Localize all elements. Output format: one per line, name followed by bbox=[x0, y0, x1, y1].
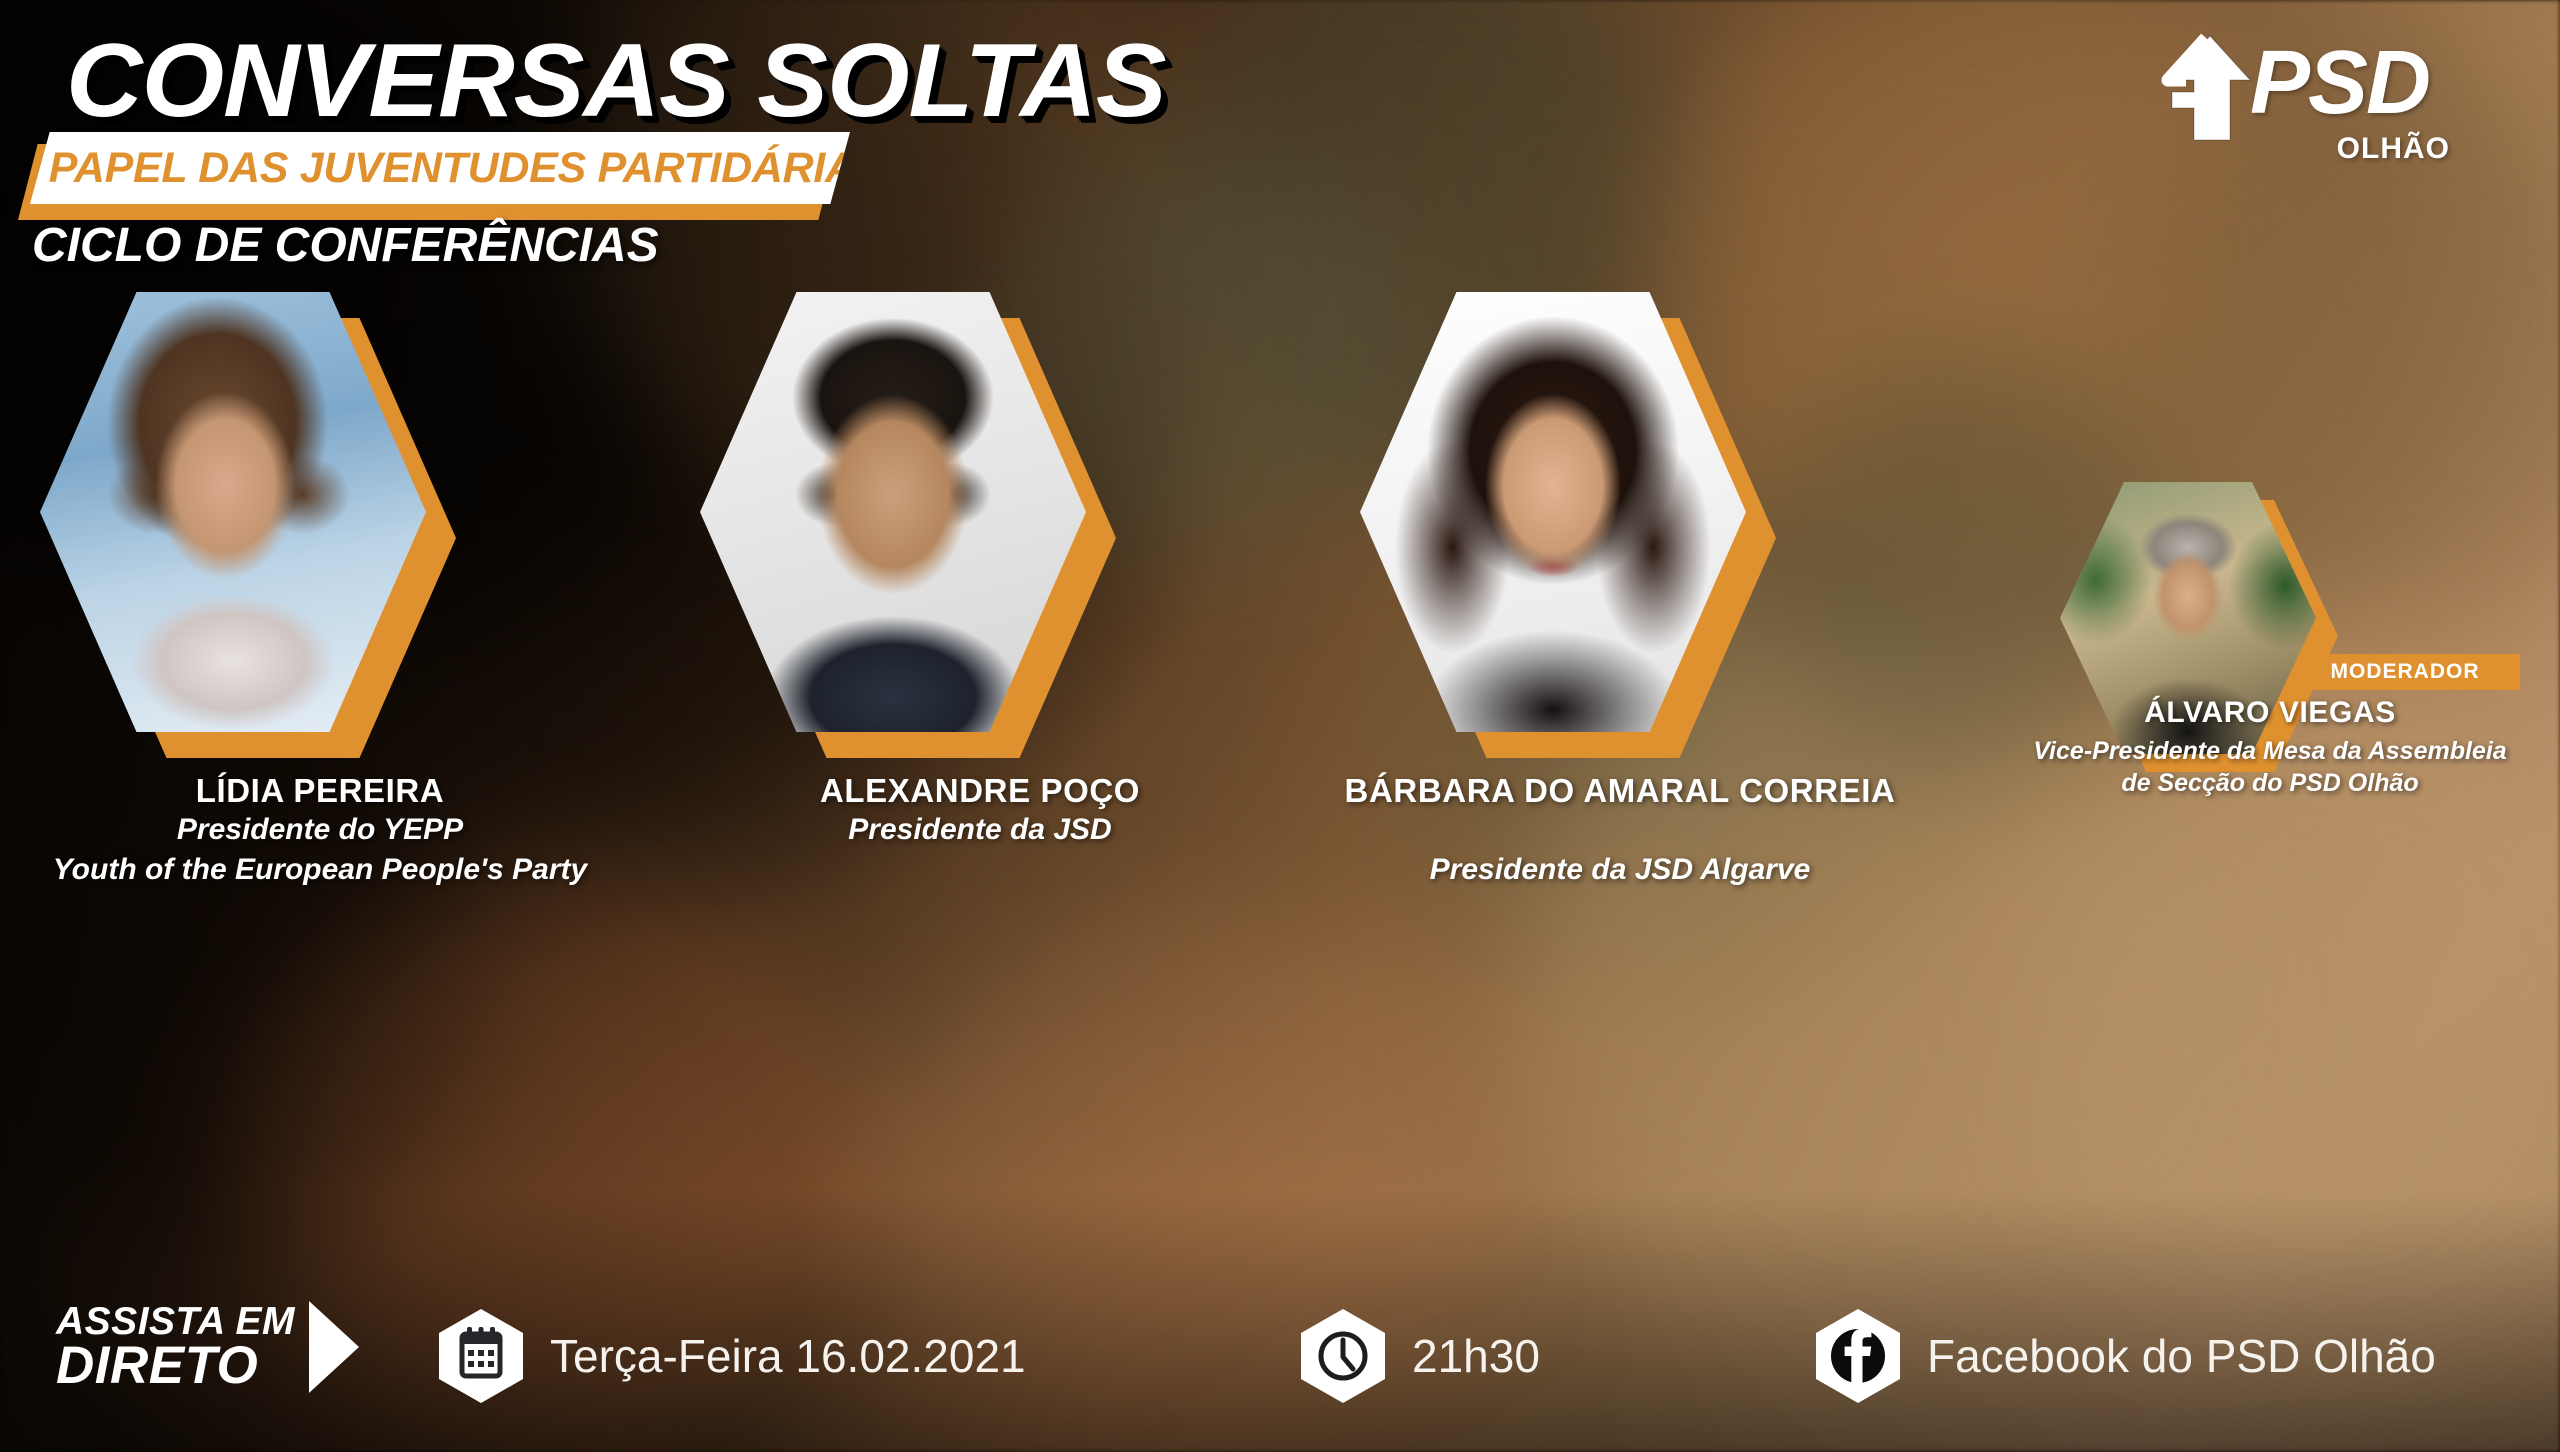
watch-live-line2: DIRETO bbox=[56, 1341, 258, 1392]
subtitle-banner: O PAPEL DAS JUVENTUDES PARTIDÁRIAS bbox=[18, 132, 846, 210]
speaker-card-1 bbox=[40, 292, 460, 762]
series-label: CICLO DE CONFERÊNCIAS bbox=[32, 218, 659, 273]
play-triangle-icon bbox=[305, 1299, 363, 1400]
speakers-row: LÍDIA PEREIRA Presidente do YEPP Youth o… bbox=[0, 292, 2560, 762]
speaker-name-2: ALEXANDRE POÇO bbox=[660, 772, 1300, 810]
moderator-badge-label: MODERADOR bbox=[2331, 660, 2480, 684]
calendar-icon bbox=[438, 1308, 524, 1404]
psd-logo-text: PSD bbox=[2250, 32, 2429, 135]
footer-bar: ASSISTA EM DIRETO bbox=[0, 1242, 2560, 1452]
subtitle-banner-plate: O PAPEL DAS JUVENTUDES PARTIDÁRIAS bbox=[30, 132, 850, 204]
moderator-badge: MODERADOR bbox=[2290, 654, 2520, 690]
psd-logo-city: OLHÃO bbox=[2337, 132, 2450, 166]
watch-live-block: ASSISTA EM DIRETO bbox=[56, 1295, 363, 1400]
event-date-text: Terça-Feira 16.02.2021 bbox=[550, 1329, 1026, 1383]
speaker-card-2 bbox=[700, 292, 1120, 762]
speaker-role-1-line2: Youth of the European People's Party bbox=[0, 852, 640, 888]
event-date-item: Terça-Feira 16.02.2021 bbox=[438, 1308, 1026, 1404]
event-time-item: 21h30 bbox=[1300, 1308, 1540, 1404]
moderator-role-line2: de Secção do PSD Olhão bbox=[2000, 768, 2540, 798]
psd-logo: PSD OLHÃO bbox=[2142, 28, 2502, 178]
speaker-role-3: Presidente da JSD Algarve bbox=[1330, 852, 1910, 888]
event-time-text: 21h30 bbox=[1412, 1329, 1540, 1383]
speaker-role-1: Presidente do YEPP bbox=[0, 812, 640, 848]
event-poster: CONVERSAS SOLTAS O PAPEL DAS JUVENTUDES … bbox=[0, 0, 2560, 1452]
clock-icon bbox=[1300, 1308, 1386, 1404]
moderator-role: Vice-Presidente da Mesa da Assembleia bbox=[2000, 736, 2540, 766]
facebook-icon[interactable] bbox=[1815, 1308, 1901, 1404]
speaker-name-1: LÍDIA PEREIRA bbox=[0, 772, 640, 810]
psd-arrow-logo-icon bbox=[2150, 32, 2260, 149]
subtitle-text: O PAPEL DAS JUVENTUDES PARTIDÁRIAS bbox=[4, 144, 884, 193]
speaker-card-3 bbox=[1360, 292, 1780, 762]
event-channel-text[interactable]: Facebook do PSD Olhão bbox=[1927, 1329, 2436, 1383]
speaker-role-2: Presidente da JSD bbox=[660, 812, 1300, 848]
event-channel-item[interactable]: Facebook do PSD Olhão bbox=[1815, 1308, 2436, 1404]
moderator-name: ÁLVARO VIEGAS bbox=[2020, 696, 2520, 731]
poster-title: CONVERSAS SOLTAS bbox=[66, 22, 1166, 141]
speaker-name-3: BÁRBARA DO AMARAL CORREIA bbox=[1330, 772, 1910, 810]
